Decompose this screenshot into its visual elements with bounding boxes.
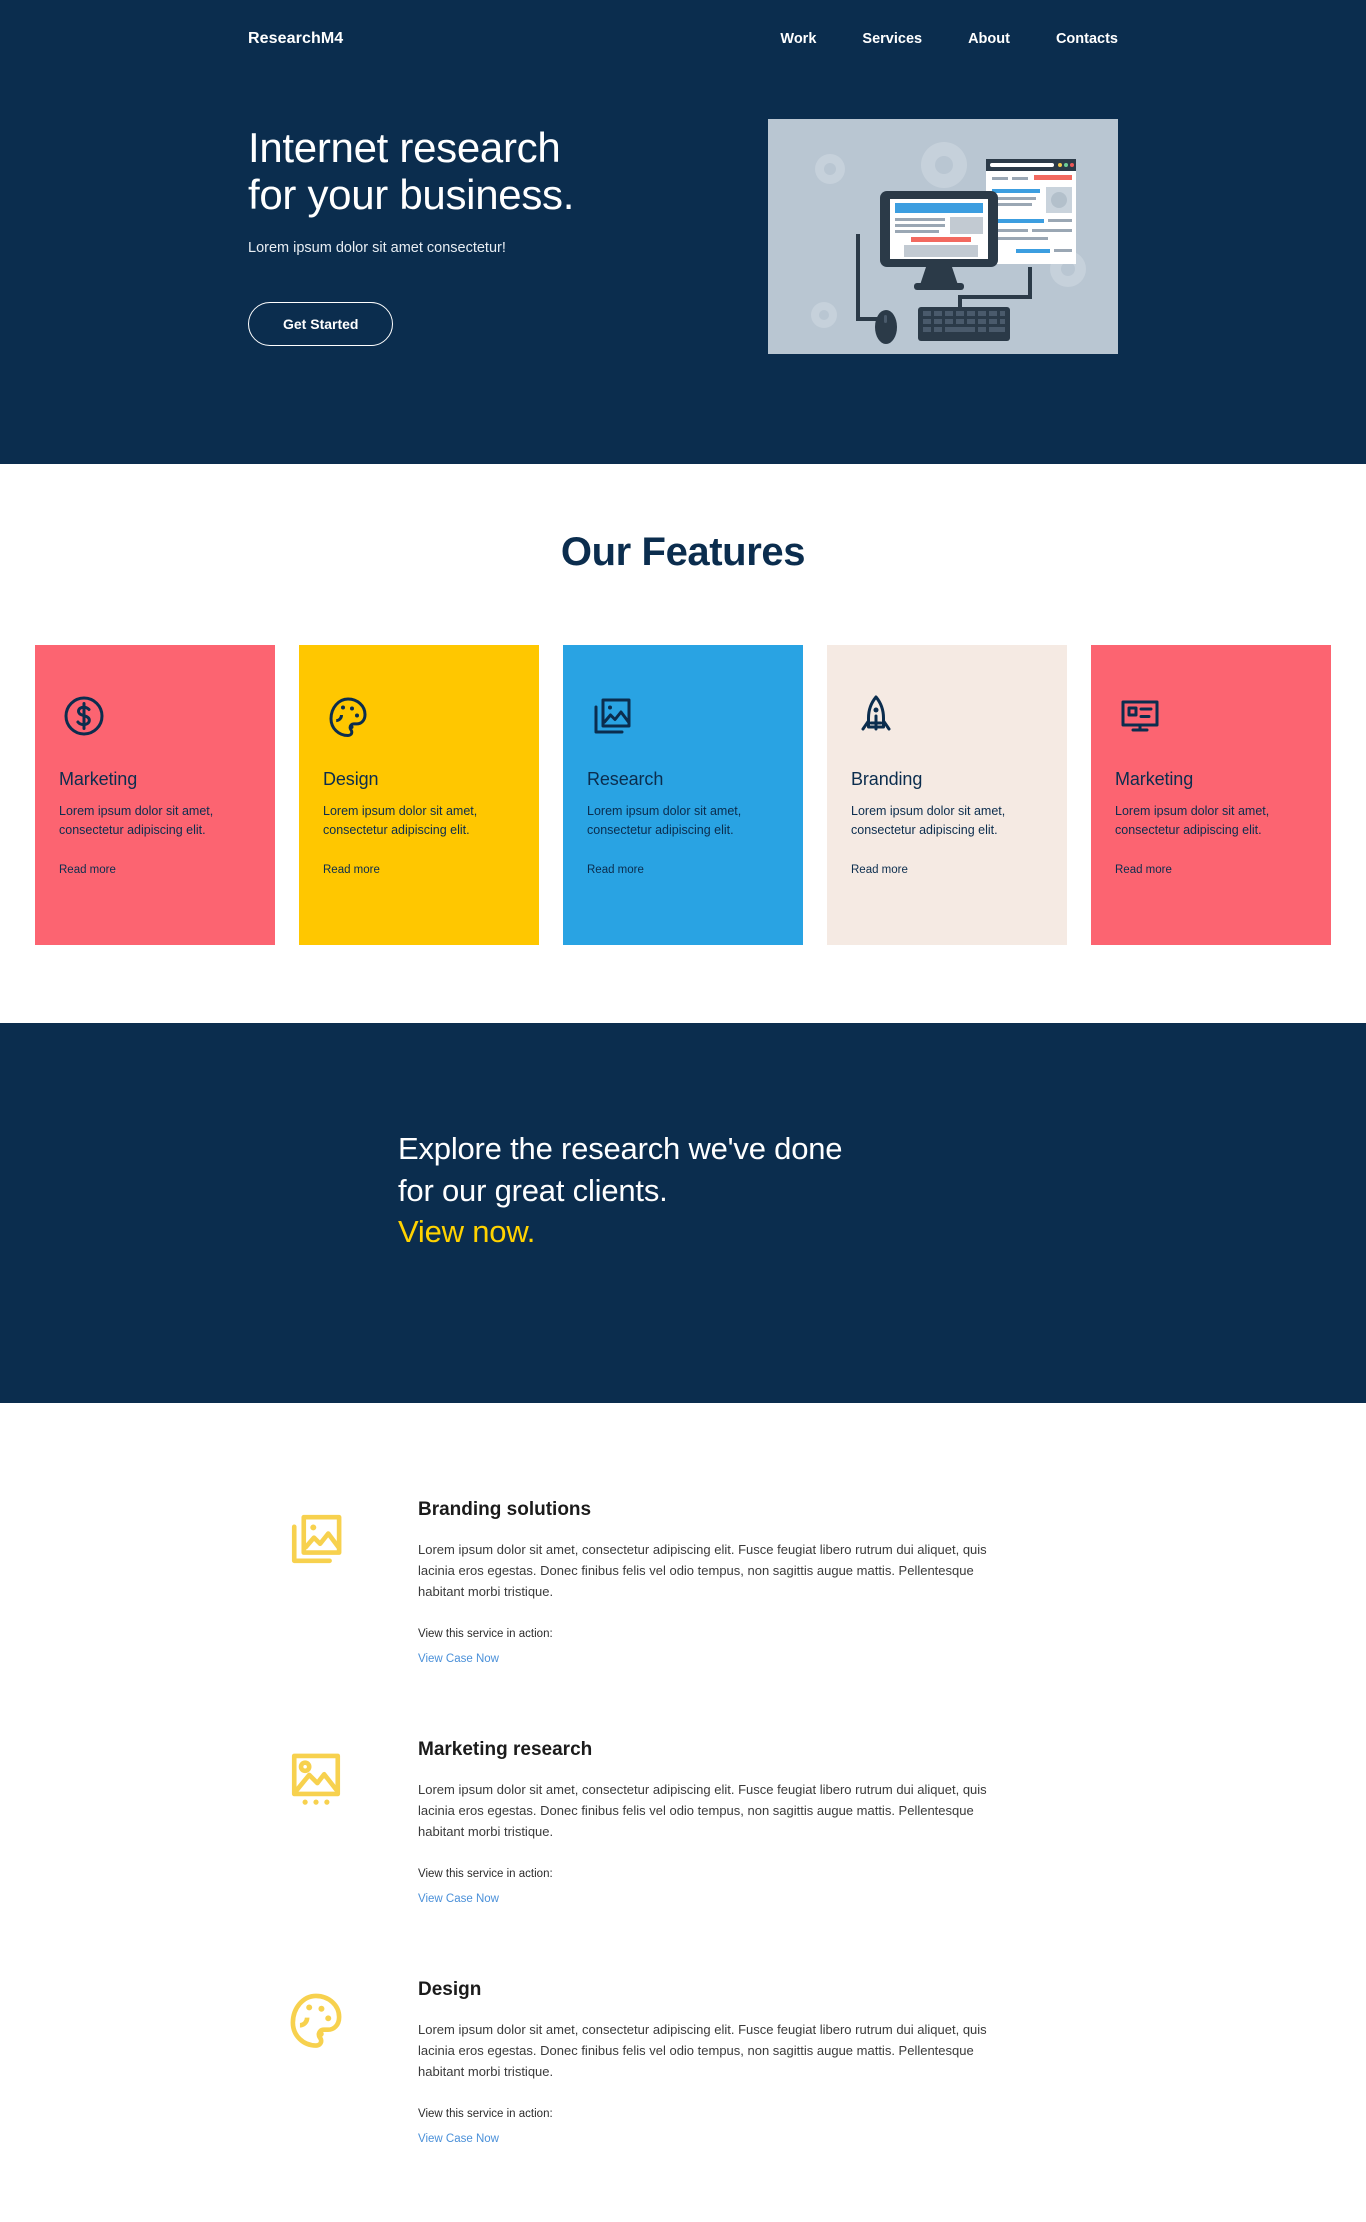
services-section: Branding solutions Lorem ipsum dolor sit… (0, 1403, 1366, 2219)
main-navbar: ResearchM4 Work Services About Contacts (0, 0, 1366, 48)
service-body: Branding solutions Lorem ipsum dolor sit… (418, 1499, 1066, 1667)
feature-card-title: Design (323, 769, 515, 790)
service-title: Branding solutions (418, 1499, 1066, 1521)
feature-read-more-link[interactable]: Read more (323, 864, 380, 876)
service-item-marketing-research: Marketing research Lorem ipsum dolor sit… (282, 1739, 1066, 1979)
desktop-computer-research-illustration (768, 119, 1118, 354)
feature-card-title: Marketing (59, 769, 251, 790)
image-stack-icon (587, 691, 779, 743)
hero-copy: Internet research for your business. Lor… (248, 108, 690, 346)
feature-card-text: Lorem ipsum dolor sit amet, consectetur … (59, 802, 239, 840)
service-action-label: View this service in action: (418, 1868, 1066, 1880)
feature-card-design[interactable]: Design Lorem ipsum dolor sit amet, conse… (299, 645, 539, 945)
feature-card-title: Branding (851, 769, 1043, 790)
hero-title: Internet research for your business. (248, 124, 690, 218)
feature-card-text: Lorem ipsum dolor sit amet, consectetur … (851, 802, 1031, 840)
service-description: Lorem ipsum dolor sit amet, consectetur … (418, 1779, 1018, 1842)
monitor-presentation-icon (1115, 691, 1307, 743)
nav-item-about[interactable]: About (968, 31, 1010, 47)
service-description: Lorem ipsum dolor sit amet, consectetur … (418, 1539, 1018, 1602)
cta-headline: Explore the research we've done for our … (398, 1128, 1118, 1211)
service-body: Marketing research Lorem ipsum dolor sit… (418, 1739, 1066, 1907)
feature-card-text: Lorem ipsum dolor sit amet, consectetur … (1115, 802, 1295, 840)
rocket-icon (851, 691, 1043, 743)
service-view-case-link[interactable]: View Case Now (418, 2133, 499, 2145)
site-logo[interactable]: ResearchM4 (248, 30, 343, 48)
feature-card-title: Research (587, 769, 779, 790)
nav-item-work[interactable]: Work (780, 31, 816, 47)
nav-item-contacts[interactable]: Contacts (1056, 31, 1118, 47)
photo-icon (282, 1739, 378, 1907)
service-action-label: View this service in action: (418, 1628, 1066, 1640)
hero-body: Internet research for your business. Lor… (0, 48, 1366, 464)
feature-card-marketing-1[interactable]: Marketing Lorem ipsum dolor sit amet, co… (35, 645, 275, 945)
service-item-branding-solutions: Branding solutions Lorem ipsum dolor sit… (282, 1499, 1066, 1739)
service-title: Marketing research (418, 1739, 1066, 1761)
nav-links: Work Services About Contacts (780, 31, 1118, 47)
nav-item-services[interactable]: Services (862, 31, 922, 47)
features-section: Our Features Marketing Lorem ipsum dolor… (0, 464, 1366, 1023)
service-item-design: Design Lorem ipsum dolor sit amet, conse… (282, 1979, 1066, 2219)
service-description: Lorem ipsum dolor sit amet, consectetur … (418, 2019, 1018, 2082)
feature-read-more-link[interactable]: Read more (851, 864, 908, 876)
feature-card-marketing-2[interactable]: Marketing Lorem ipsum dolor sit amet, co… (1091, 645, 1331, 945)
landing-page: ResearchM4 Work Services About Contacts … (0, 0, 1366, 2222)
service-action-label: View this service in action: (418, 2108, 1066, 2120)
service-title: Design (418, 1979, 1066, 2001)
feature-card-title: Marketing (1115, 769, 1307, 790)
cta-section: Explore the research we've done for our … (0, 1023, 1366, 1403)
feature-card-text: Lorem ipsum dolor sit amet, consectetur … (587, 802, 767, 840)
feature-card-text: Lorem ipsum dolor sit amet, consectetur … (323, 802, 503, 840)
feature-read-more-link[interactable]: Read more (1115, 864, 1172, 876)
hero-subtitle: Lorem ipsum dolor sit amet consectetur! (248, 240, 690, 256)
palette-icon (323, 691, 515, 743)
hero-section: ResearchM4 Work Services About Contacts … (0, 0, 1366, 464)
features-heading: Our Features (0, 530, 1366, 575)
cta-view-now-link[interactable]: View now. (398, 1211, 1118, 1253)
feature-card-branding[interactable]: Branding Lorem ipsum dolor sit amet, con… (827, 645, 1067, 945)
feature-card-research[interactable]: Research Lorem ipsum dolor sit amet, con… (563, 645, 803, 945)
service-view-case-link[interactable]: View Case Now (418, 1653, 499, 1665)
service-body: Design Lorem ipsum dolor sit amet, conse… (418, 1979, 1066, 2147)
image-stack-icon (282, 1499, 378, 1667)
cta-inner: Explore the research we've done for our … (248, 1128, 1118, 1253)
feature-read-more-link[interactable]: Read more (59, 864, 116, 876)
get-started-button[interactable]: Get Started (248, 302, 393, 346)
feature-cards: Marketing Lorem ipsum dolor sit amet, co… (0, 645, 1366, 945)
hero-illustration (768, 119, 1118, 354)
service-view-case-link[interactable]: View Case Now (418, 1893, 499, 1905)
feature-read-more-link[interactable]: Read more (587, 864, 644, 876)
palette-icon (282, 1979, 378, 2147)
dollar-circle-icon (59, 691, 251, 743)
